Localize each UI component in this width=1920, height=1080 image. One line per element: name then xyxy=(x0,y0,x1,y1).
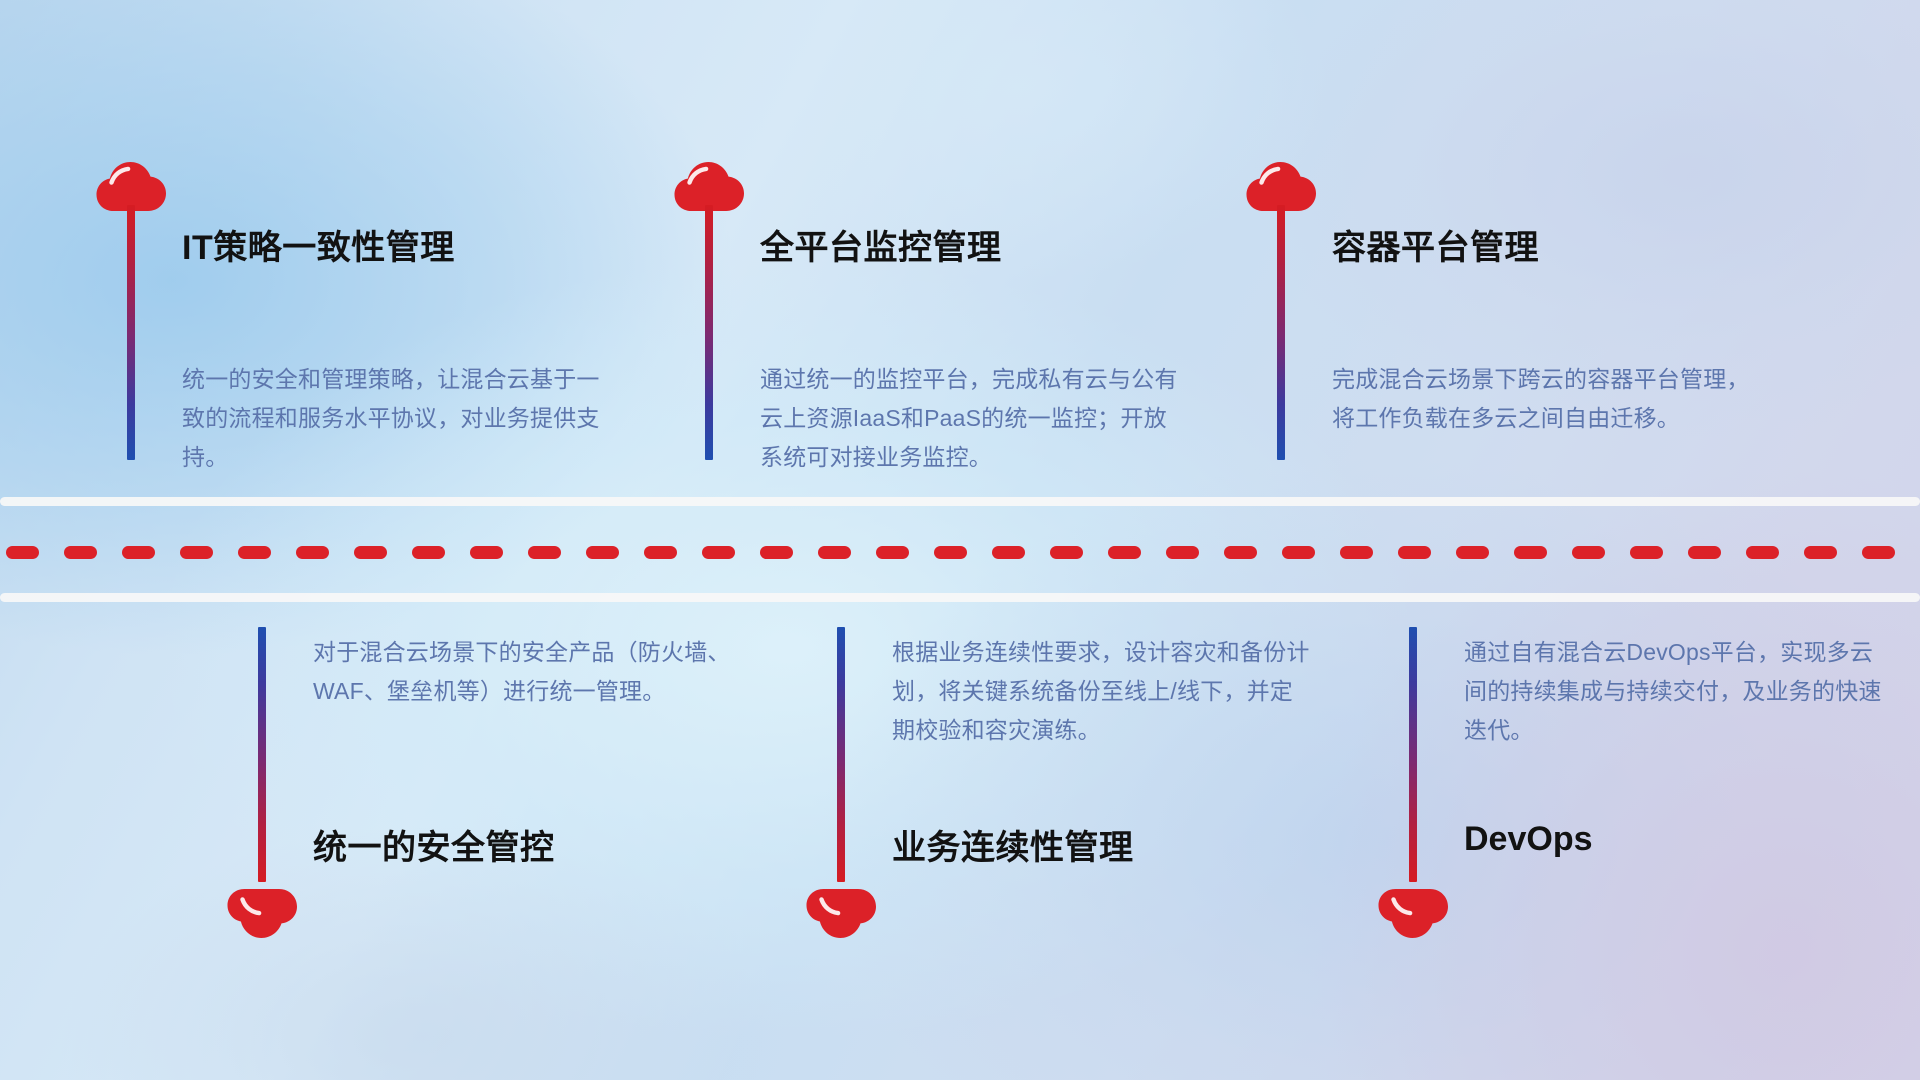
divider-dash xyxy=(1282,546,1315,559)
divider-dash xyxy=(1572,546,1605,559)
divider-dash xyxy=(702,546,735,559)
divider-dash xyxy=(644,546,677,559)
divider-dash xyxy=(934,546,967,559)
card-title: 业务连续性管理 xyxy=(892,820,1134,869)
stem-connector xyxy=(1277,205,1285,460)
cloud-icon xyxy=(95,158,167,212)
divider-dash xyxy=(1050,546,1083,559)
divider-dash xyxy=(1746,546,1779,559)
divider-edge-bottom xyxy=(0,593,1920,602)
divider-dash xyxy=(470,546,503,559)
stem-connector xyxy=(837,627,845,882)
card-body: 通过自有混合云DevOps平台，实现多云间的持续集成与持续交付，及业务的快速迭代… xyxy=(1464,633,1884,750)
divider-dash xyxy=(1108,546,1141,559)
cloud-icon xyxy=(805,888,877,942)
divider-edge-top xyxy=(0,497,1920,506)
divider-dash xyxy=(6,546,39,559)
stem-connector xyxy=(1409,627,1417,882)
divider-dash xyxy=(354,546,387,559)
divider-dash xyxy=(64,546,97,559)
divider-dash xyxy=(876,546,909,559)
card-title: 统一的安全管控 xyxy=(313,820,555,869)
card-title: DevOps xyxy=(1464,820,1593,859)
divider-dash xyxy=(1630,546,1663,559)
card-body: 通过统一的监控平台，完成私有云与公有云上资源IaaS和PaaS的统一监控；开放系… xyxy=(760,360,1180,477)
cloud-icon xyxy=(1245,158,1317,212)
card-title: 容器平台管理 xyxy=(1332,220,1539,269)
stem-connector xyxy=(127,205,135,460)
divider-dash xyxy=(1166,546,1199,559)
divider-dash xyxy=(1340,546,1373,559)
card-body: 统一的安全和管理策略，让混合云基于一致的流程和服务水平协议，对业务提供支持。 xyxy=(182,360,602,477)
divider-dash xyxy=(1804,546,1837,559)
stem-connector xyxy=(258,627,266,882)
divider-dash xyxy=(818,546,851,559)
divider-dash xyxy=(122,546,155,559)
card-body: 根据业务连续性要求，设计容灾和备份计划，将关键系统备份至线上/线下，并定期校验和… xyxy=(892,633,1312,750)
divider-dash xyxy=(296,546,329,559)
cloud-icon xyxy=(226,888,298,942)
stem-connector xyxy=(705,205,713,460)
divider-dash xyxy=(180,546,213,559)
card-body: 完成混合云场景下跨云的容器平台管理，将工作负载在多云之间自由迁移。 xyxy=(1332,360,1752,438)
divider-dashes xyxy=(0,545,1920,559)
divider-dash xyxy=(1862,546,1895,559)
divider-dash xyxy=(412,546,445,559)
divider-dash xyxy=(1224,546,1257,559)
card-body: 对于混合云场景下的安全产品（防火墙、WAF、堡垒机等）进行统一管理。 xyxy=(313,633,733,711)
card-title: IT策略一致性管理 xyxy=(182,220,455,269)
divider-dash xyxy=(1398,546,1431,559)
divider-dash xyxy=(528,546,561,559)
divider-dash xyxy=(992,546,1025,559)
divider-dash xyxy=(238,546,271,559)
cloud-icon xyxy=(673,158,745,212)
divider-dash xyxy=(1688,546,1721,559)
divider-dash xyxy=(1514,546,1547,559)
divider-dash xyxy=(1456,546,1489,559)
infographic-canvas: IT策略一致性管理 统一的安全和管理策略，让混合云基于一致的流程和服务水平协议，… xyxy=(0,0,1920,1080)
card-title: 全平台监控管理 xyxy=(760,220,1002,269)
divider-dash xyxy=(760,546,793,559)
divider-dash xyxy=(586,546,619,559)
cloud-icon xyxy=(1377,888,1449,942)
